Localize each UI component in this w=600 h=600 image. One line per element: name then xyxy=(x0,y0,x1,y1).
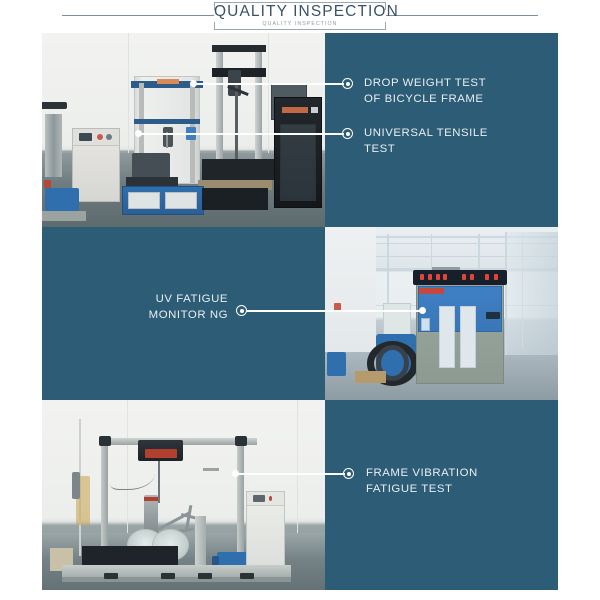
photo-drop-weight-test xyxy=(42,33,325,227)
header-rule-right xyxy=(386,15,538,16)
section-row-2: UV FATIGUE MONITOR NG xyxy=(42,227,558,400)
connector-line-uv-fatigue-photo xyxy=(325,310,422,312)
callout-marker-frame-vibration-test[interactable] xyxy=(343,468,354,479)
callout-marker-universal-tensile-test[interactable] xyxy=(342,128,353,139)
callout-universal-tensile-test: UNIVERSAL TENSILE TEST xyxy=(364,125,488,157)
callout-line-2: MONITOR NG xyxy=(80,307,228,323)
connector-endpoint-uv-fatigue xyxy=(419,307,426,314)
section-row-1: DROP WEIGHT TEST OF BICYCLE FRAME UNIVER… xyxy=(42,33,558,227)
panel-row-3: FRAME VIBRATION FATIGUE TEST xyxy=(325,400,558,590)
callout-marker-drop-weight-test[interactable] xyxy=(342,78,353,89)
connector-line-frame-vibration-panel xyxy=(325,473,345,475)
callout-line-1: UV FATIGUE xyxy=(80,291,228,307)
connector-line-uv-fatigue-panel xyxy=(247,310,325,312)
quality-inspection-infographic: QUALITY INSPECTION QUALITY INSPECTION xyxy=(0,0,600,600)
page-header: QUALITY INSPECTION QUALITY INSPECTION xyxy=(0,0,600,32)
callout-frame-vibration-test: FRAME VIBRATION FATIGUE TEST xyxy=(366,465,478,497)
page-title: QUALITY INSPECTION xyxy=(214,3,386,21)
callout-line-1: FRAME VIBRATION xyxy=(366,465,478,481)
callout-marker-uv-fatigue-monitor[interactable] xyxy=(236,305,247,316)
callout-drop-weight-test: DROP WEIGHT TEST OF BICYCLE FRAME xyxy=(364,75,486,107)
callout-uv-fatigue-monitor: UV FATIGUE MONITOR NG xyxy=(80,291,228,323)
callout-line-1: UNIVERSAL TENSILE xyxy=(364,125,488,141)
connector-line-drop-weight-photo xyxy=(193,83,325,85)
panel-row-1: DROP WEIGHT TEST OF BICYCLE FRAME UNIVER… xyxy=(325,33,558,227)
callout-line-1: DROP WEIGHT TEST xyxy=(364,75,486,91)
header-title-frame: QUALITY INSPECTION QUALITY INSPECTION xyxy=(214,2,386,30)
page-subtitle: QUALITY INSPECTION xyxy=(214,21,386,27)
photo-frame-vibration-test xyxy=(42,400,325,590)
connector-line-tensile-photo xyxy=(138,133,325,135)
photo-uv-fatigue-monitor xyxy=(325,227,558,400)
section-row-3: FRAME VIBRATION FATIGUE TEST xyxy=(42,400,558,590)
callout-line-2: OF BICYCLE FRAME xyxy=(364,91,486,107)
callout-line-2: FATIGUE TEST xyxy=(366,481,478,497)
panel-row-2: UV FATIGUE MONITOR NG xyxy=(42,227,325,400)
callout-line-2: TEST xyxy=(364,141,488,157)
header-rule-left xyxy=(62,15,214,16)
connector-line-frame-vibration-photo xyxy=(235,473,325,475)
